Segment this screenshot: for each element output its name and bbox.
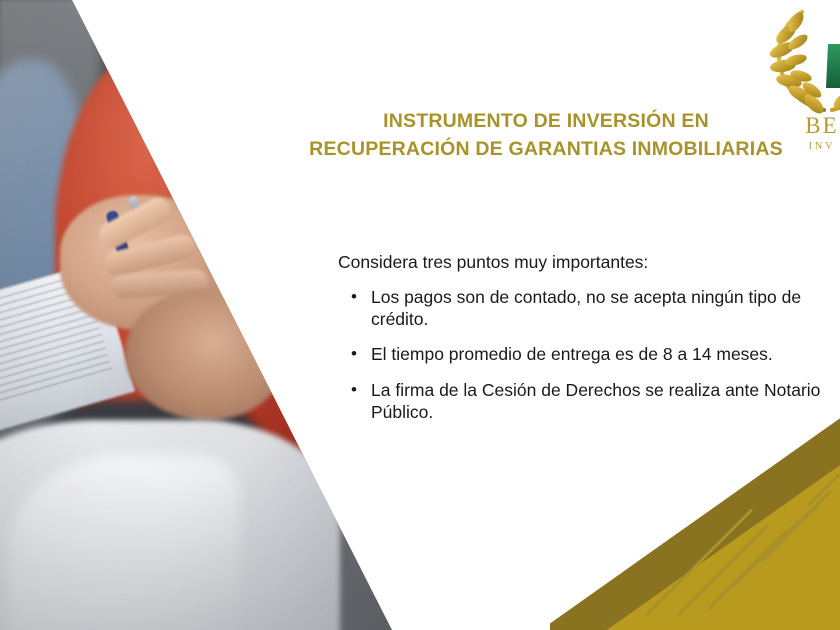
slide-title: INSTRUMENTO DE INVERSIÓN EN RECUPERACIÓN…: [286, 108, 806, 163]
slide-body: Considera tres puntos muy importantes: L…: [338, 252, 830, 423]
deco-stripe: [761, 505, 818, 562]
right-edge-gold-sliver: [831, 476, 840, 534]
deco-stripe: [787, 490, 832, 535]
bullet-item-2: El tiempo promedio de entrega es de 8 a …: [338, 343, 830, 365]
deco-stripe: [807, 473, 840, 506]
bullet-list: Los pagos son de contado, no se acepta n…: [338, 286, 830, 423]
deco-wedge-dark: [550, 400, 840, 630]
deco-stripe: [707, 531, 787, 611]
slide: BE INV INSTRUMENTO DE INVERSIÓN EN RECUP…: [0, 0, 840, 630]
gold-diagonal-corner-decoration: [550, 400, 840, 630]
deco-stripe: [645, 508, 753, 616]
title-line-1: INSTRUMENTO DE INVERSIÓN EN: [286, 108, 806, 136]
deco-stripe: [731, 519, 801, 589]
body-lead-text: Considera tres puntos muy importantes:: [338, 252, 830, 274]
deco-stripe: [677, 524, 770, 617]
deco-wedge-gold: [550, 400, 840, 630]
bullet-item-1: Los pagos son de contado, no se acepta n…: [338, 286, 830, 330]
bullet-item-3: La firma de la Cesión de Derechos se rea…: [338, 379, 830, 423]
green-emblem-icon: [826, 36, 840, 88]
laurel-wreath-icon: [762, 6, 840, 118]
title-line-2: RECUPERACIÓN DE GARANTIAS INMOBILIARIAS: [286, 136, 806, 164]
